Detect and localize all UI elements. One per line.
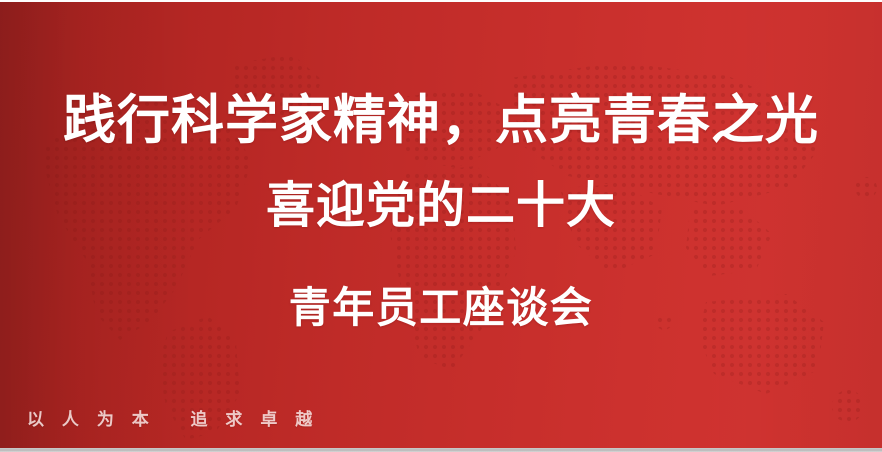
title-line-2: 喜迎党的二十大 xyxy=(0,177,882,235)
presentation-slide: 践行科学家精神，点亮青春之光 喜迎党的二十大 青年员工座谈会 以 人 为 本 追… xyxy=(0,0,882,452)
top-edge-sliver xyxy=(0,0,882,2)
title-line-1: 践行科学家精神，点亮青春之光 xyxy=(0,90,882,152)
corporate-slogan: 以 人 为 本 追 求 卓 越 xyxy=(27,408,318,432)
slide-text-block: 践行科学家精神，点亮青春之光 喜迎党的二十大 青年员工座谈会 xyxy=(0,0,882,446)
slide-subtitle: 青年员工座谈会 xyxy=(0,282,882,334)
bottom-edge-strip xyxy=(0,448,882,452)
